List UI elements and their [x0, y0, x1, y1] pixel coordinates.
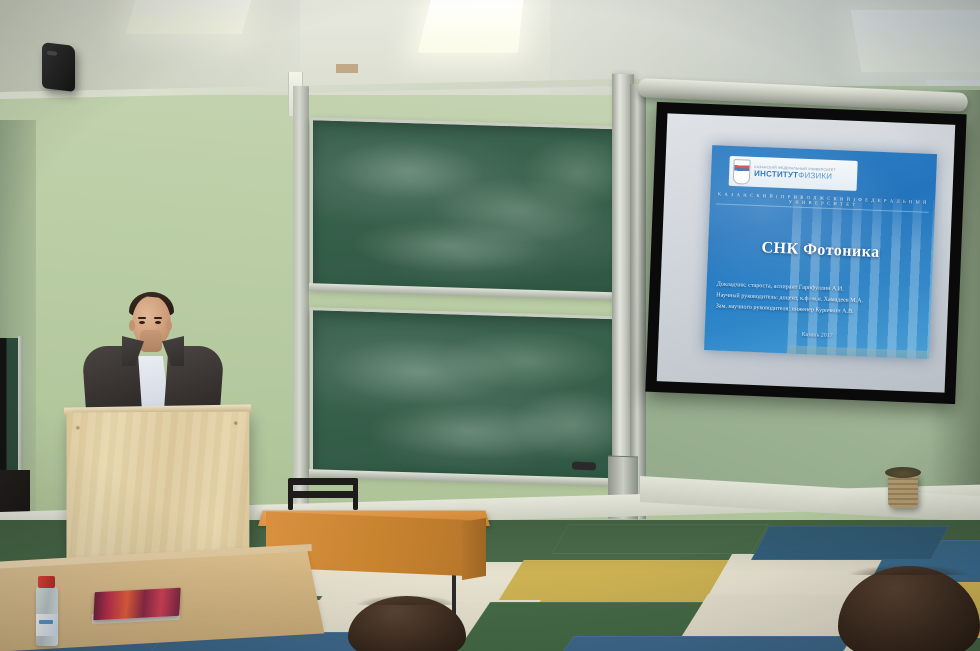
- lecture-hall-photo: КАЗАНСКИЙ ФЕДЕРАЛЬНЫЙ УНИВЕРСИТЕТ ИНСТИТ…: [0, 0, 980, 651]
- chalk-smear: [443, 328, 613, 393]
- hair-tufts: [838, 561, 980, 575]
- classroom-desk-side: [462, 518, 486, 580]
- floor-tile: [551, 524, 768, 554]
- chair-slat-middle: [288, 491, 358, 498]
- podium-screw: [234, 422, 237, 425]
- slide-glare: [704, 145, 937, 359]
- chalkboard-left-rail: [293, 86, 309, 506]
- eyebrow-left: [138, 317, 146, 319]
- suit-lapel-right: [162, 336, 184, 366]
- water-bottle-label: [36, 614, 58, 636]
- water-bottle-cap: [38, 576, 55, 588]
- podium-screw: [76, 426, 79, 429]
- chalk-smear: [433, 176, 603, 245]
- chalk-smear: [333, 139, 483, 201]
- wall-socket-plate: [336, 64, 358, 73]
- chalk-smear: [369, 400, 569, 462]
- upper-chalkboard: [310, 117, 636, 298]
- magazine: [93, 588, 180, 621]
- audience-member-front-left: [348, 596, 466, 651]
- projection-screen: КАЗАНСКИЙ ФЕДЕРАЛЬНЫЙ УНИВЕРСИТЕТ ИНСТИТ…: [645, 102, 966, 404]
- projection-screen-surface: КАЗАНСКИЙ ФЕДЕРАЛЬНЫЙ УНИВЕРСИТЕТ ИНСТИТ…: [657, 113, 956, 392]
- floor-tile: [751, 526, 949, 560]
- chalk-smear: [353, 217, 543, 275]
- lower-chalkboard: [310, 307, 636, 483]
- classroom-chair: [288, 478, 358, 510]
- chalk-eraser: [572, 462, 596, 471]
- chalk-smear: [331, 337, 511, 408]
- left-wall-board-frame: [18, 336, 23, 482]
- presentation-slide: КАЗАНСКИЙ ФЕДЕРАЛЬНЫЙ УНИВЕРСИТЕТ ИНСТИТ…: [704, 145, 937, 359]
- wall-speaker: [42, 42, 75, 92]
- corner-basket: [888, 474, 918, 508]
- eye-left: [139, 321, 145, 324]
- ceiling-light-panel: [418, 0, 524, 53]
- chalkboard-right-rail-inner: [630, 84, 646, 520]
- ear-left: [129, 320, 135, 331]
- neck: [140, 330, 162, 352]
- floor-tile: [547, 636, 854, 651]
- presenter: [82, 306, 222, 418]
- hair-tufts: [348, 591, 466, 605]
- eye-right: [155, 321, 161, 324]
- eyebrow-right: [154, 317, 162, 319]
- chair-slat-top: [288, 478, 358, 485]
- ear-right: [166, 320, 172, 331]
